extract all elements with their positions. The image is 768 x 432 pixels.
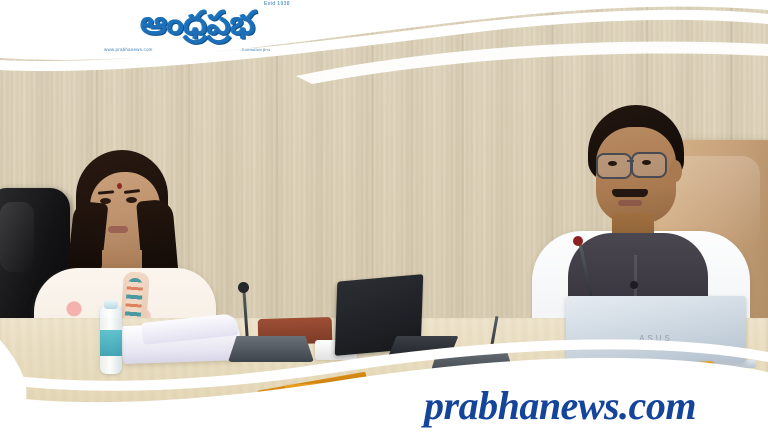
silver-laptop-lid: ASUS [566, 296, 746, 362]
ear [669, 160, 682, 182]
site-watermark: prabhanews.com [424, 386, 696, 426]
water-bottle-cap [104, 300, 118, 309]
eye-left [100, 198, 111, 204]
andhra-prabha-logo[interactable]: Estd 1938 ఆంధ్రప్రభ www.prabhanews.com J… [100, 0, 296, 54]
eyeglass-lens-left [596, 153, 632, 179]
logo-tagline-text: Journalism first [241, 47, 270, 52]
eye-right [642, 160, 651, 165]
water-bottle-label [100, 330, 122, 356]
eye-left [608, 161, 617, 166]
eyeglass-lens-right [631, 152, 667, 178]
logo-telugu-text: ఆంధ్రప్రభ [100, 4, 296, 42]
logo-url-text: www.prabhanews.com [104, 47, 153, 52]
jacket-button [630, 281, 638, 289]
bindi [117, 183, 122, 189]
conference-microphone-base [228, 336, 314, 362]
lips [108, 226, 128, 233]
microphone-capsule [238, 282, 249, 293]
conference-room-photo: ASUS [0, 0, 768, 432]
eye-right [126, 197, 137, 203]
news-photo-card: ASUS Estd 1938 ఆంధ్రప్రభ www.prabhanews.… [0, 0, 768, 432]
eyeglass-bridge [627, 160, 634, 162]
laptop-brand-label: ASUS [566, 334, 746, 343]
lips [618, 200, 642, 206]
moustache [612, 189, 648, 197]
microphone-capsule [573, 236, 583, 246]
